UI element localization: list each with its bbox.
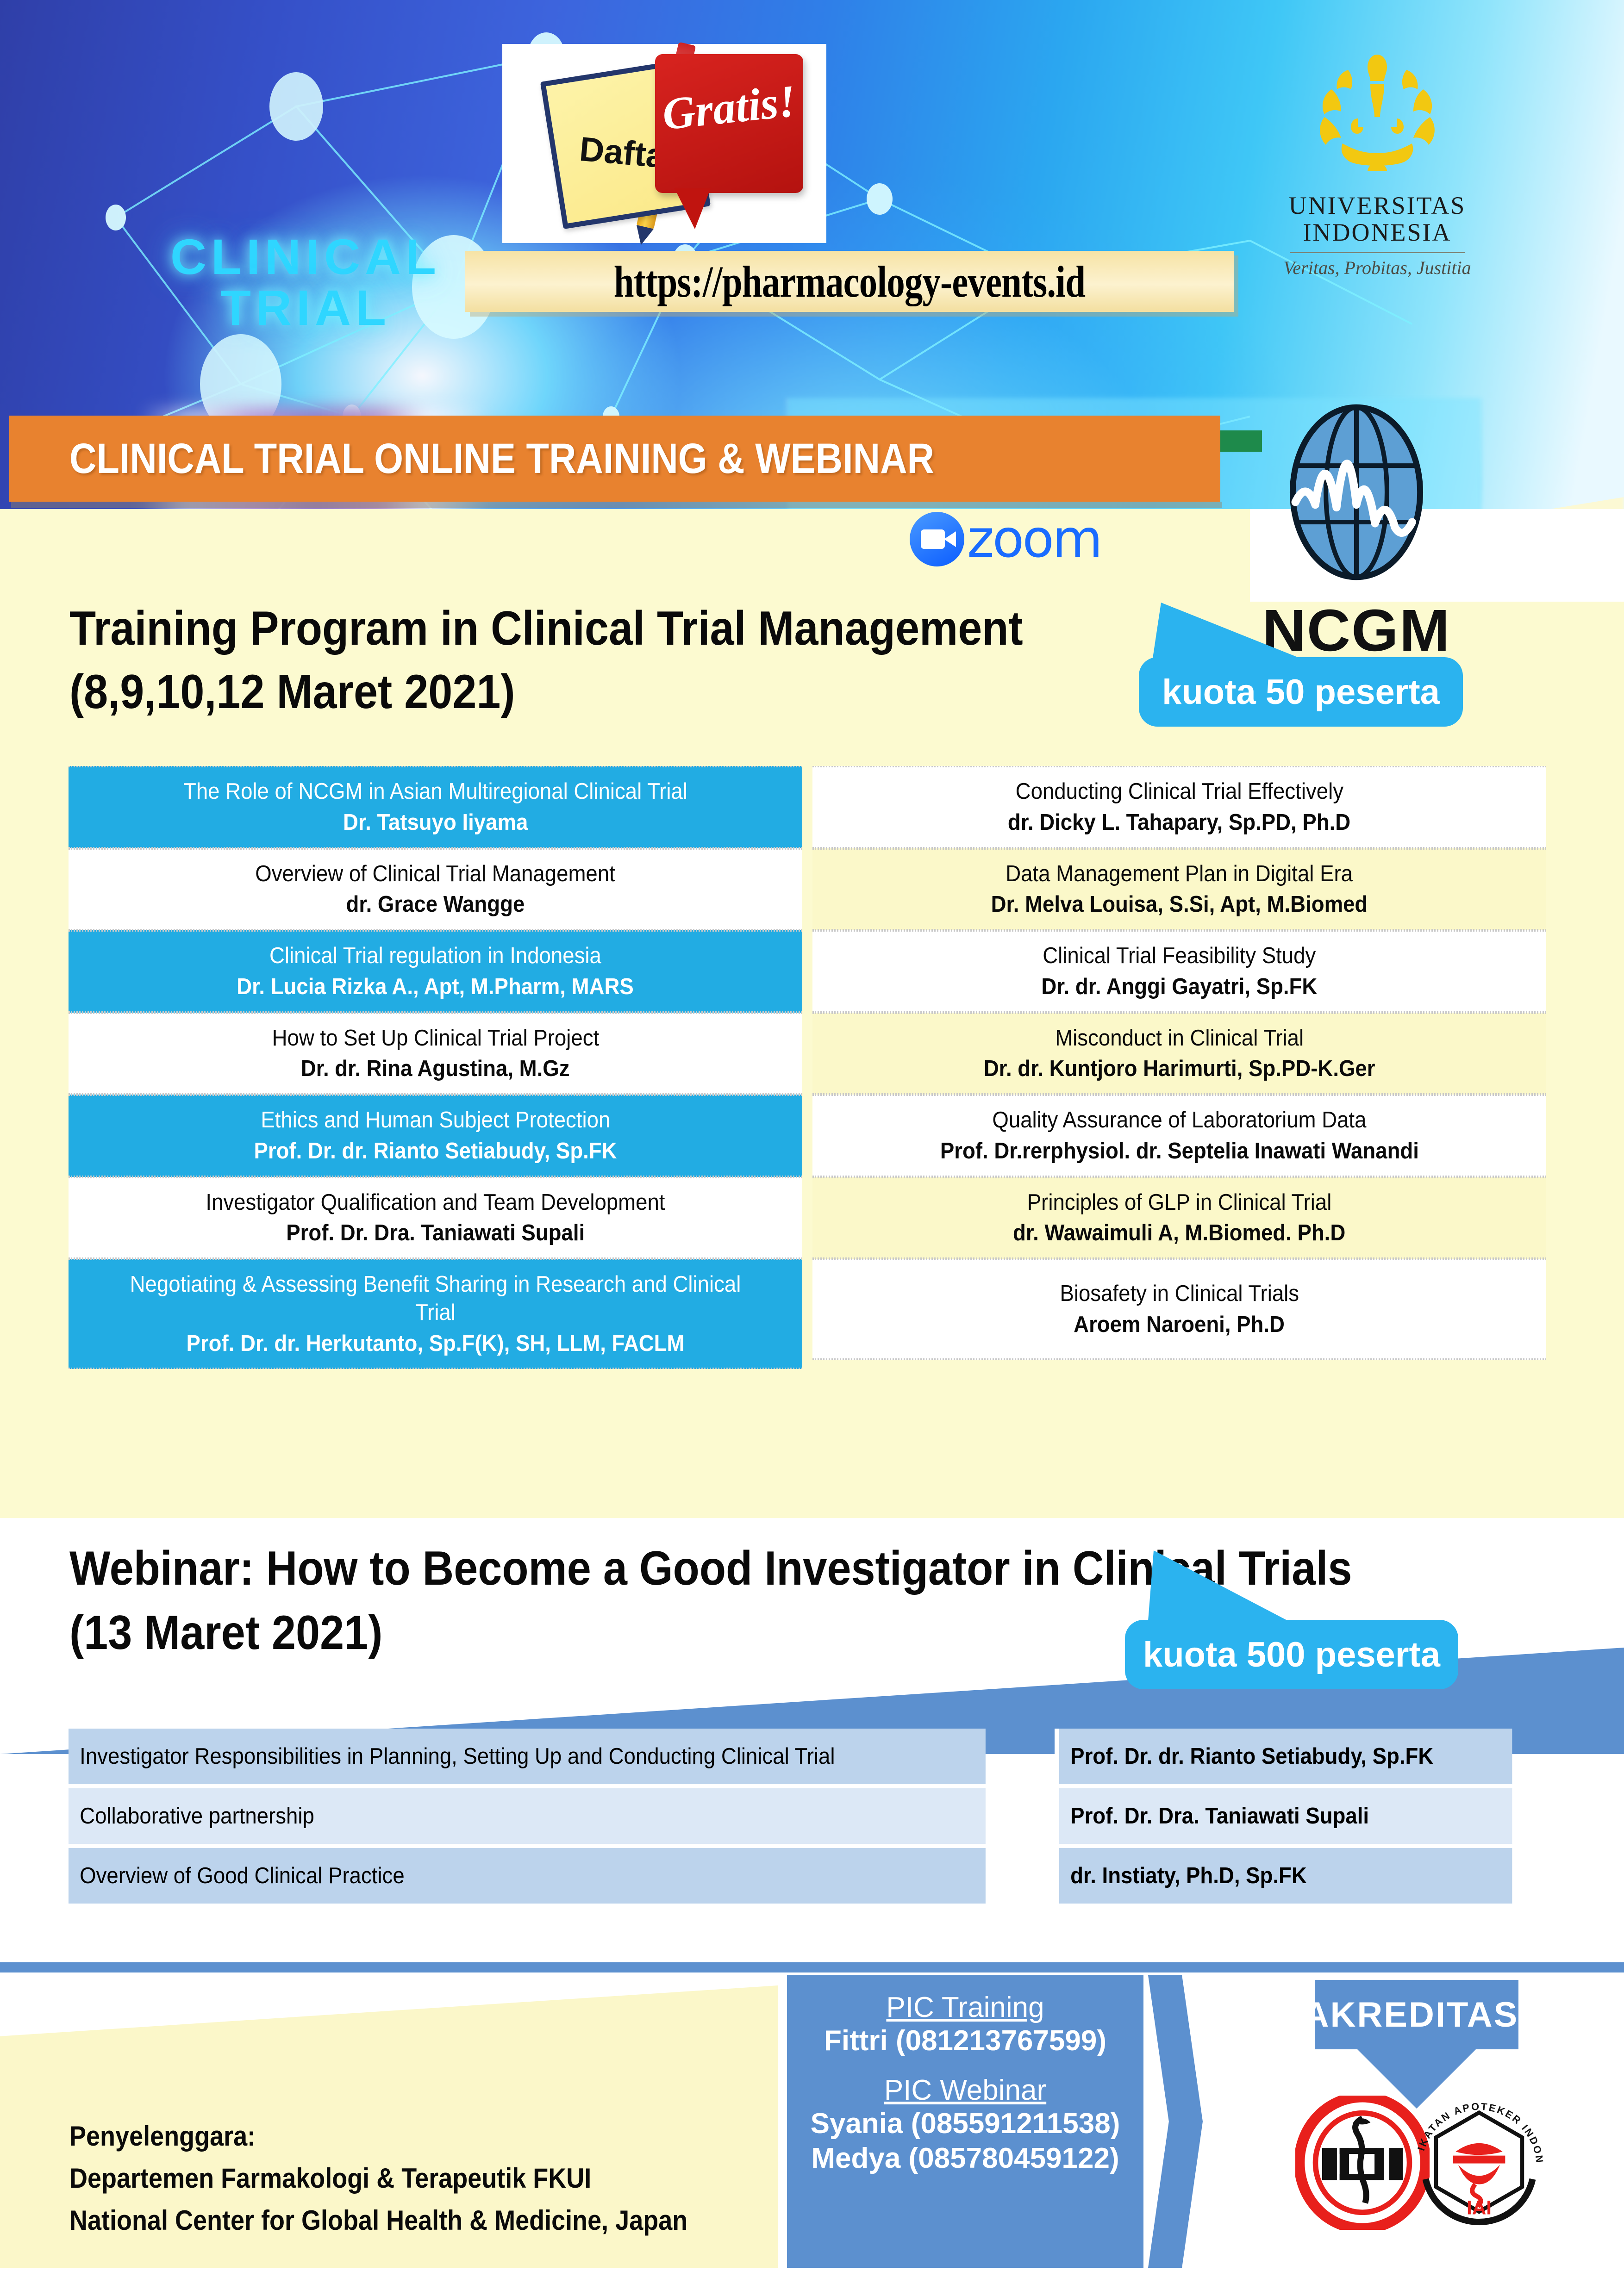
session-topic: How to Set Up Clinical Trial Project <box>272 1024 599 1052</box>
session-topic: Overview of Clinical Trial Management <box>256 860 616 888</box>
training-row: The Role of NCGM in Asian Multiregional … <box>69 766 802 848</box>
pic-training-contact[interactable]: Fittri (081213767599) <box>787 2024 1143 2058</box>
session-speaker: Dr. Tatsuyo Iiyama <box>343 809 528 837</box>
session-speaker: Dr. dr. Rina Agustina, M.Gz <box>301 1055 570 1083</box>
session-speaker: Prof. Dr. dr. Herkutanto, Sp.F(K), SH, L… <box>187 1330 685 1358</box>
training-row: Overview of Clinical Trial Managementdr.… <box>69 848 802 931</box>
organizer-text-block: Penyelenggara: Departemen Farmakologi & … <box>69 2115 764 2242</box>
banner-shadow <box>11 502 1222 508</box>
hero-word-line2: TRIAL <box>144 282 468 333</box>
organizer-label: Penyelenggara: <box>69 2115 694 2157</box>
callout-bubble: kuota 500 peserta <box>1125 1620 1458 1689</box>
training-left-column: The Role of NCGM in Asian Multiregional … <box>69 766 802 1369</box>
column-separator <box>1055 1848 1059 1904</box>
training-right-column: Conducting Clinical Trial Effectivelydr.… <box>812 766 1546 1369</box>
training-row: Misconduct in Clinical TrialDr. dr. Kunt… <box>812 1013 1546 1095</box>
webinar-speaker: dr. Instiaty, Ph.D, Sp.FK <box>1059 1848 1512 1904</box>
webinar-topic: Overview of Good Clinical Practice <box>69 1848 986 1904</box>
session-speaker: Prof. Dr. Dra. Taniawati Supali <box>286 1219 585 1247</box>
university-name: UNIVERSITAS INDONESIA <box>1278 192 1477 246</box>
hero-word-line1: CLINICAL <box>144 231 468 282</box>
column-separator <box>1055 1788 1059 1844</box>
accreditation-block: AKREDITASI IAI <box>1268 1980 1565 2267</box>
speech-bubble: Gratis! <box>655 54 803 193</box>
zoom-wordmark: zoom <box>967 509 1101 569</box>
column-separator <box>1055 1729 1059 1784</box>
webinar-quota-text: kuota 500 peserta <box>1143 1635 1440 1675</box>
accreditation-label: AKREDITASI <box>1304 1995 1530 2035</box>
pic-webinar-label: PIC Webinar <box>787 2074 1143 2107</box>
webinar-row: Collaborative partnershipProf. Dr. Dra. … <box>69 1788 1546 1844</box>
session-topic: Data Management Plan in Digital Era <box>1006 860 1353 888</box>
session-topic: Principles of GLP in Clinical Trial <box>1027 1188 1332 1217</box>
session-speaker: Dr. dr. Kuntjoro Harimurti, Sp.PD-K.Ger <box>984 1055 1375 1083</box>
callout-tail <box>1153 603 1300 658</box>
session-topic: Quality Assurance of Laboratorium Data <box>992 1106 1366 1134</box>
training-row: How to Set Up Clinical Trial ProjectDr. … <box>69 1013 802 1095</box>
university-motto: Veritas, Probitas, Justitia <box>1278 257 1477 279</box>
session-speaker: dr. Dicky L. Tahapary, Sp.PD, Ph.D <box>1008 809 1350 837</box>
pic-contact-panel: PIC Training Fittri (081213767599) PIC W… <box>787 1975 1143 2268</box>
training-row: Investigator Qualification and Team Deve… <box>69 1177 802 1259</box>
training-row: Ethics and Human Subject ProtectionProf.… <box>69 1095 802 1177</box>
training-row: Biosafety in Clinical TrialsAroem Naroen… <box>812 1259 1546 1360</box>
sticker-bubble-text: Gratis! <box>653 75 806 142</box>
session-speaker: Aroem Naroeni, Ph.D <box>1074 1311 1285 1339</box>
session-topic: The Role of NCGM in Asian Multiregional … <box>183 778 687 806</box>
session-speaker: dr. Grace Wangge <box>346 890 525 919</box>
session-topic: Clinical Trial regulation in Indonesia <box>269 942 601 970</box>
zoom-logo: zoom <box>910 509 1160 569</box>
training-row: Principles of GLP in Clinical Trialdr. W… <box>812 1177 1546 1259</box>
logo-divider <box>1290 252 1465 253</box>
registration-url-text[interactable]: https://pharmacology-events.id <box>614 256 1085 307</box>
session-topic: Clinical Trial Feasibility Study <box>1043 942 1316 970</box>
session-topic: Misconduct in Clinical Trial <box>1055 1024 1304 1052</box>
iai-logo-icon: IAI IKATAN APOTEKER INDONESIA <box>1407 2096 1551 2239</box>
university-name-line1: UNIVERSITAS <box>1278 192 1477 219</box>
registration-url-banner[interactable]: https://pharmacology-events.id <box>465 251 1234 312</box>
training-row: Clinical Trial regulation in IndonesiaDr… <box>69 930 802 1013</box>
webinar-row: Investigator Responsibilities in Plannin… <box>69 1729 1546 1784</box>
session-topic: Investigator Qualification and Team Deve… <box>206 1188 665 1217</box>
webinar-topic: Investigator Responsibilities in Plannin… <box>69 1729 986 1784</box>
universitas-indonesia-logo: UNIVERSITAS INDONESIA Veritas, Probitas,… <box>1278 46 1477 324</box>
training-row: Negotiating & Assessing Benefit Sharing … <box>69 1259 802 1369</box>
poster-canvas: CLINICAL TRIAL Daftar Gratis! https://ph… <box>0 0 1624 2296</box>
training-row: Clinical Trial Feasibility StudyDr. dr. … <box>812 930 1546 1013</box>
main-banner: CLINICAL TRIAL ONLINE TRAINING & WEBINAR <box>9 416 1220 502</box>
pic-webinar-contact-1[interactable]: Syania (085591211538) <box>787 2107 1143 2141</box>
session-speaker: Dr. Lucia Rizka A., Apt, M.Pharm, MARS <box>237 973 634 1001</box>
training-row: Quality Assurance of Laboratorium DataPr… <box>812 1095 1546 1177</box>
session-topic: Biosafety in Clinical Trials <box>1060 1280 1299 1308</box>
training-schedule-table: The Role of NCGM in Asian Multiregional … <box>69 766 1546 1369</box>
training-dates: (8,9,10,12 Maret 2021) <box>69 660 1069 724</box>
clinical-trial-artwork-text: CLINICAL TRIAL <box>144 231 468 333</box>
pic-webinar-contact-2[interactable]: Medya (085780459122) <box>787 2141 1143 2176</box>
webinar-topic: Collaborative partnership <box>69 1788 986 1844</box>
webinar-schedule-table: Investigator Responsibilities in Plannin… <box>69 1729 1546 1908</box>
iai-mark-text: IAI <box>1467 2196 1492 2218</box>
training-title-block: Training Program in Clinical Trial Manag… <box>69 597 1181 724</box>
pic-training-label: PIC Training <box>787 1991 1143 2024</box>
training-row: Data Management Plan in Digital EraDr. M… <box>812 848 1546 931</box>
training-title: Training Program in Clinical Trial Manag… <box>69 597 1069 660</box>
training-row: Conducting Clinical Trial Effectivelydr.… <box>812 766 1546 848</box>
callout-bubble: kuota 50 peserta <box>1139 657 1463 727</box>
daftar-gratis-sticker: Daftar Gratis! <box>502 44 826 243</box>
webinar-speaker: Prof. Dr. dr. Rianto Setiabudy, Sp.FK <box>1059 1729 1512 1784</box>
ncgm-globe-icon <box>1259 403 1454 602</box>
main-banner-title: CLINICAL TRIAL ONLINE TRAINING & WEBINAR <box>69 435 934 483</box>
training-quota-callout: kuota 50 peserta <box>1139 657 1463 727</box>
callout-tail <box>1148 1550 1288 1621</box>
organizer-line2: National Center for Global Health & Medi… <box>69 2199 694 2241</box>
webinar-speaker: Prof. Dr. Dra. Taniawati Supali <box>1059 1788 1512 1844</box>
footer-top-rule <box>0 1962 1624 1972</box>
session-speaker: dr. Wawaimuli A, M.Biomed. Ph.D <box>1013 1219 1345 1247</box>
video-camera-icon <box>910 512 964 566</box>
makara-ui-icon <box>1308 46 1447 185</box>
organizer-line1: Departemen Farmakologi & Terapeutik FKUI <box>69 2157 694 2199</box>
session-speaker: Dr. dr. Anggi Gayatri, Sp.FK <box>1042 973 1318 1001</box>
session-speaker: Prof. Dr.rerphysiol. dr. Septelia Inawat… <box>940 1137 1418 1165</box>
session-topic: Negotiating & Assessing Benefit Sharing … <box>109 1270 762 1327</box>
session-speaker: Prof. Dr. dr. Rianto Setiabudy, Sp.FK <box>254 1137 617 1165</box>
session-topic: Conducting Clinical Trial Effectively <box>1015 778 1343 806</box>
webinar-quota-callout: kuota 500 peserta <box>1125 1620 1458 1689</box>
session-topic: Ethics and Human Subject Protection <box>261 1106 610 1134</box>
webinar-row: Overview of Good Clinical Practicedr. In… <box>69 1848 1546 1904</box>
session-speaker: Dr. Melva Louisa, S.Si, Apt, M.Biomed <box>991 890 1368 919</box>
training-quota-text: kuota 50 peserta <box>1162 672 1440 712</box>
accreditation-badge: AKREDITASI <box>1315 1980 1518 2049</box>
university-name-line2: INDONESIA <box>1278 219 1477 246</box>
